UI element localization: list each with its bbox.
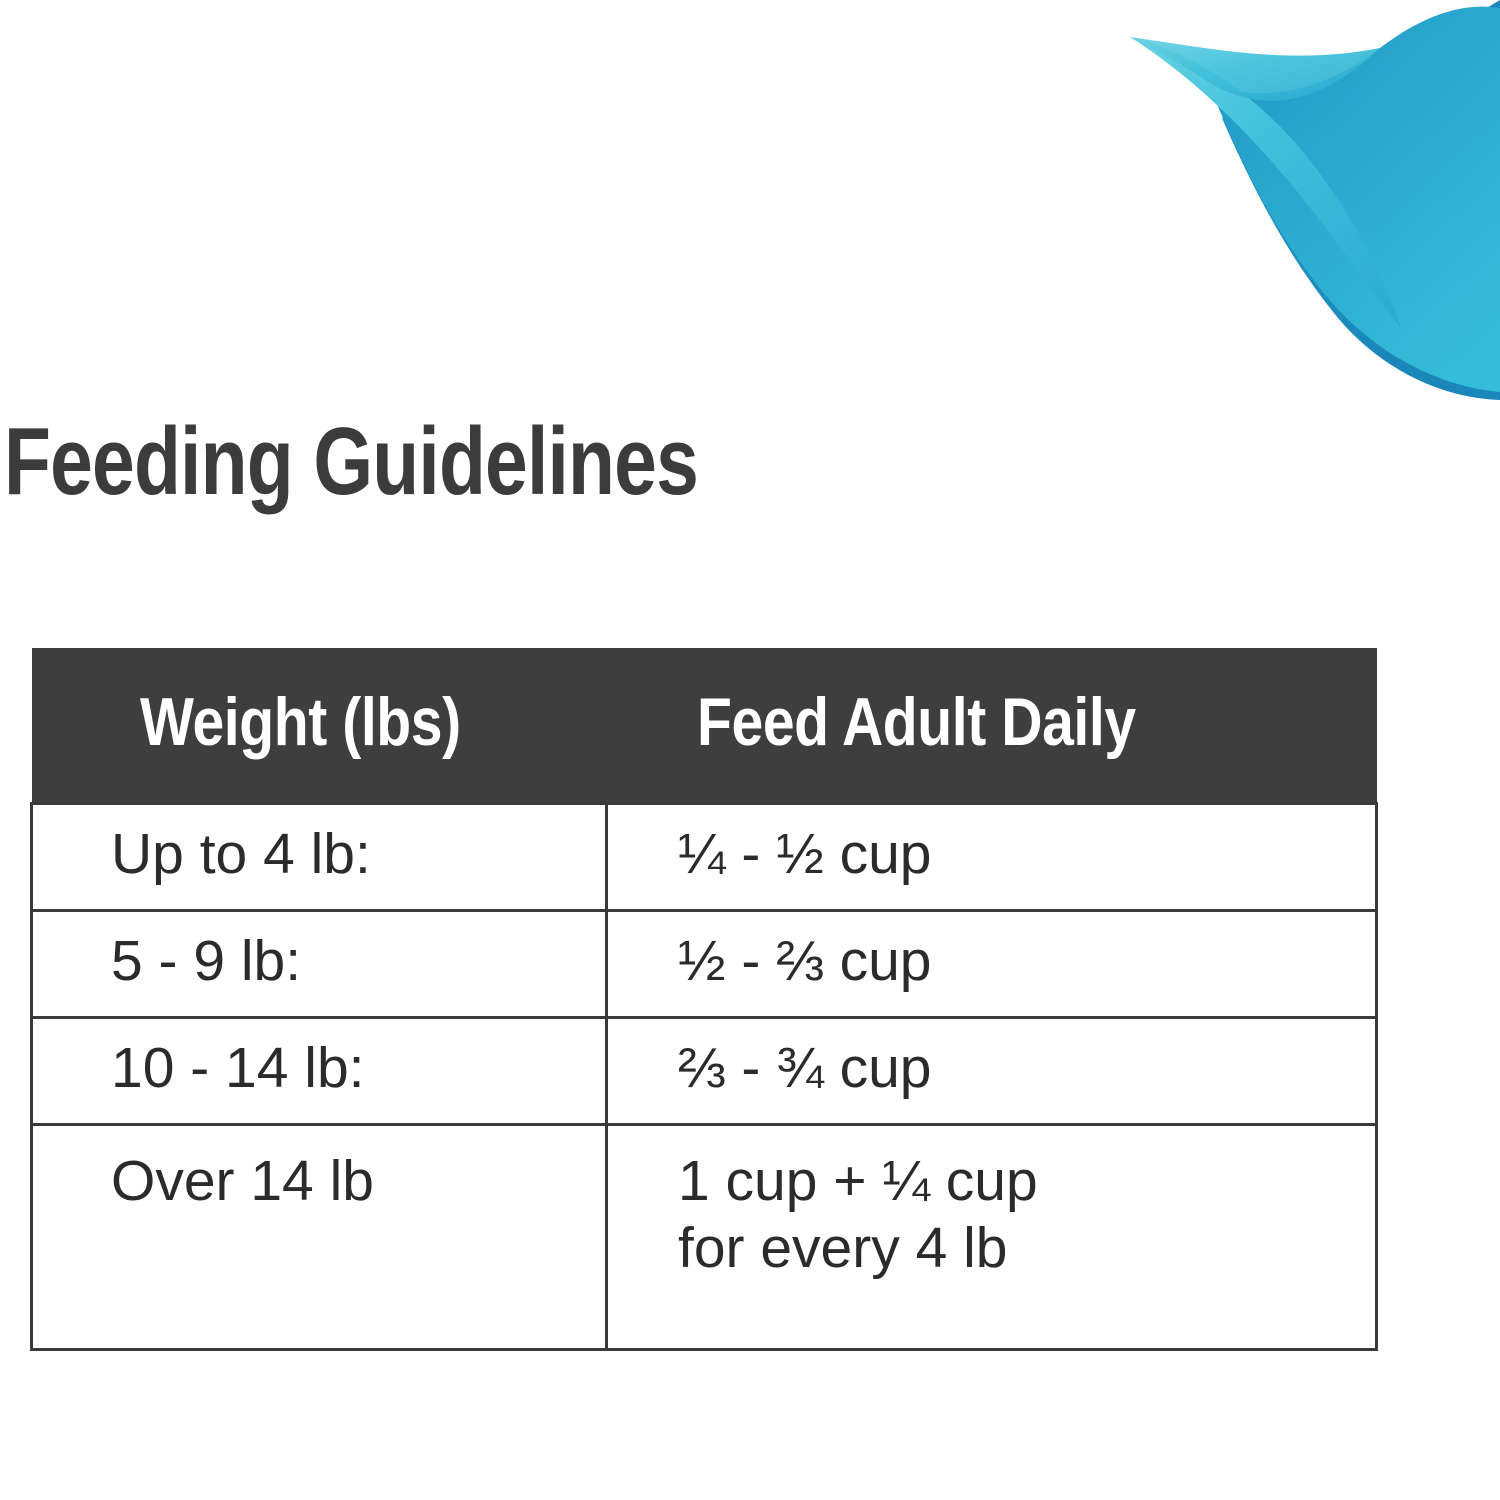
- cell-weight: Over 14 lb: [32, 1125, 607, 1350]
- cell-feed: ¼ - ½ cup: [607, 804, 1377, 911]
- cell-feed: 1 cup + ¼ cup for every 4 lb: [607, 1125, 1377, 1350]
- cell-weight-value: Over 14 lb: [111, 1148, 605, 1215]
- column-header-weight: Weight (lbs): [32, 648, 607, 804]
- blue-swoosh-graphic: [1080, 0, 1500, 420]
- cell-feed-value: ⅔ - ¾ cup: [678, 1035, 1375, 1102]
- table-row: 10 - 14 lb: ⅔ - ¾ cup: [32, 1018, 1377, 1125]
- table-row: Over 14 lb 1 cup + ¼ cup for every 4 lb: [32, 1125, 1377, 1350]
- column-header-feed: Feed Adult Daily: [607, 648, 1377, 804]
- table-header: Weight (lbs) Feed Adult Daily: [32, 648, 1377, 804]
- swoosh-layer-back: [1222, 0, 1500, 400]
- swoosh-layer-mid: [1208, 7, 1500, 392]
- swoosh-highlight-tail: [1130, 37, 1402, 330]
- cell-weight-value: Up to 4 lb:: [111, 821, 605, 888]
- cell-weight: Up to 4 lb:: [32, 804, 607, 911]
- column-header-feed-label: Feed Adult Daily: [697, 688, 1136, 756]
- table-body: Up to 4 lb: ¼ - ½ cup 5 - 9 lb: ½ - ⅔ cu…: [32, 804, 1377, 1350]
- cell-feed-value: 1 cup + ¼ cup for every 4 lb: [678, 1148, 1375, 1283]
- table-row: 5 - 9 lb: ½ - ⅔ cup: [32, 911, 1377, 1018]
- page-title: Feeding Guidelines: [4, 414, 698, 510]
- cell-weight-value: 10 - 14 lb:: [111, 1035, 605, 1102]
- cell-weight: 10 - 14 lb:: [32, 1018, 607, 1125]
- cell-weight-value: 5 - 9 lb:: [111, 928, 605, 995]
- table-header-row: Weight (lbs) Feed Adult Daily: [32, 648, 1377, 804]
- table-row: Up to 4 lb: ¼ - ½ cup: [32, 804, 1377, 911]
- swoosh-wedge: [1130, 37, 1380, 101]
- cell-feed-value: ¼ - ½ cup: [678, 821, 1375, 888]
- feeding-guidelines-table: Weight (lbs) Feed Adult Daily Up to 4 lb…: [30, 648, 1375, 1351]
- cell-feed-value: ½ - ⅔ cup: [678, 928, 1375, 995]
- cell-feed: ⅔ - ¾ cup: [607, 1018, 1377, 1125]
- column-header-weight-label: Weight (lbs): [140, 688, 461, 756]
- cell-feed: ½ - ⅔ cup: [607, 911, 1377, 1018]
- table: Weight (lbs) Feed Adult Daily Up to 4 lb…: [30, 648, 1378, 1351]
- cell-weight: 5 - 9 lb:: [32, 911, 607, 1018]
